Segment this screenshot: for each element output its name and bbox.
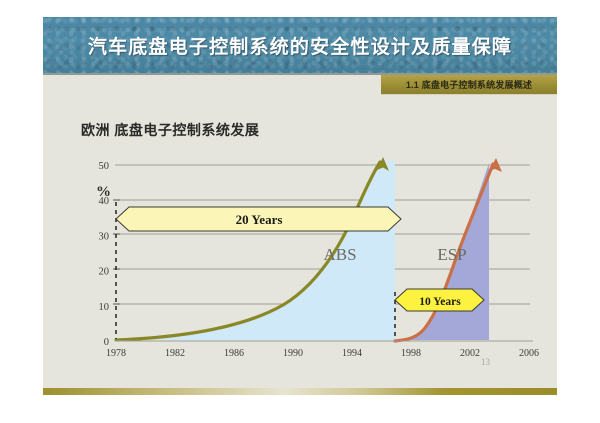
- y-tick-0: 0: [104, 337, 109, 348]
- y-axis-labels: 0 10 20 30 40 50: [99, 161, 110, 348]
- esp-curve: [395, 164, 493, 341]
- gridlines: [115, 165, 530, 341]
- y-tick-30: 30: [99, 231, 110, 242]
- span-banner-10-years-label: 10 Years: [419, 296, 461, 308]
- y-tick-50: 50: [99, 161, 110, 172]
- abs-arrowhead: [377, 157, 389, 171]
- y-tick-40: 40: [99, 196, 110, 207]
- section-badge-label: 1.1 底盘电子控制系统发展概述: [406, 78, 532, 91]
- abs-area: [116, 161, 395, 340]
- x-tick-1994: 1994: [342, 348, 362, 359]
- abs-curve: [116, 162, 380, 340]
- chart-subtitle: 欧洲 底盘电子控制系统发展: [81, 120, 259, 140]
- esp-arrowhead: [489, 158, 502, 172]
- y-tick-20: 20: [99, 267, 110, 278]
- x-tick-2002: 2002: [460, 348, 480, 359]
- abs-series-label: ABS: [323, 245, 356, 264]
- footer-gold-rule: [43, 388, 557, 395]
- slide-title: 汽车底盘电子控制系统的安全性设计及质量保障: [88, 32, 512, 59]
- x-axis-labels: 1978 1982 1986 1990 1994 1998 2002 2006: [106, 348, 539, 359]
- span-banner-10-years: 10 Years: [395, 289, 484, 311]
- span-banner-20-years-label: 20 Years: [236, 212, 283, 227]
- y-tick-10: 10: [99, 302, 110, 313]
- x-tick-1998: 1998: [401, 348, 421, 359]
- x-tick-2006: 2006: [519, 348, 539, 359]
- y-axis-unit-label: %: [96, 184, 111, 200]
- slide-title-bar: 汽车底盘电子控制系统的安全性设计及质量保障: [43, 17, 557, 75]
- esp-series-label: ESP: [437, 245, 466, 264]
- esp-area: [395, 163, 489, 340]
- x-tick-1986: 1986: [224, 348, 244, 359]
- span-banner-20-years: 20 Years: [116, 207, 401, 231]
- section-badge: 1.1 底盘电子控制系统发展概述: [381, 75, 557, 95]
- presentation-slide: 汽车底盘电子控制系统的安全性设计及质量保障 1.1 底盘电子控制系统发展概述 欧…: [43, 17, 557, 395]
- x-tick-1978: 1978: [106, 348, 126, 359]
- page-number: 13: [481, 357, 490, 367]
- x-tick-1982: 1982: [165, 348, 185, 359]
- x-tick-1990: 1990: [283, 348, 303, 359]
- slide-canvas: 汽车底盘电子控制系统的安全性设计及质量保障 1.1 底盘电子控制系统发展概述 欧…: [0, 0, 600, 423]
- esp-series-label-group: ESP: [437, 245, 466, 264]
- y-tick-marks: [113, 200, 120, 304]
